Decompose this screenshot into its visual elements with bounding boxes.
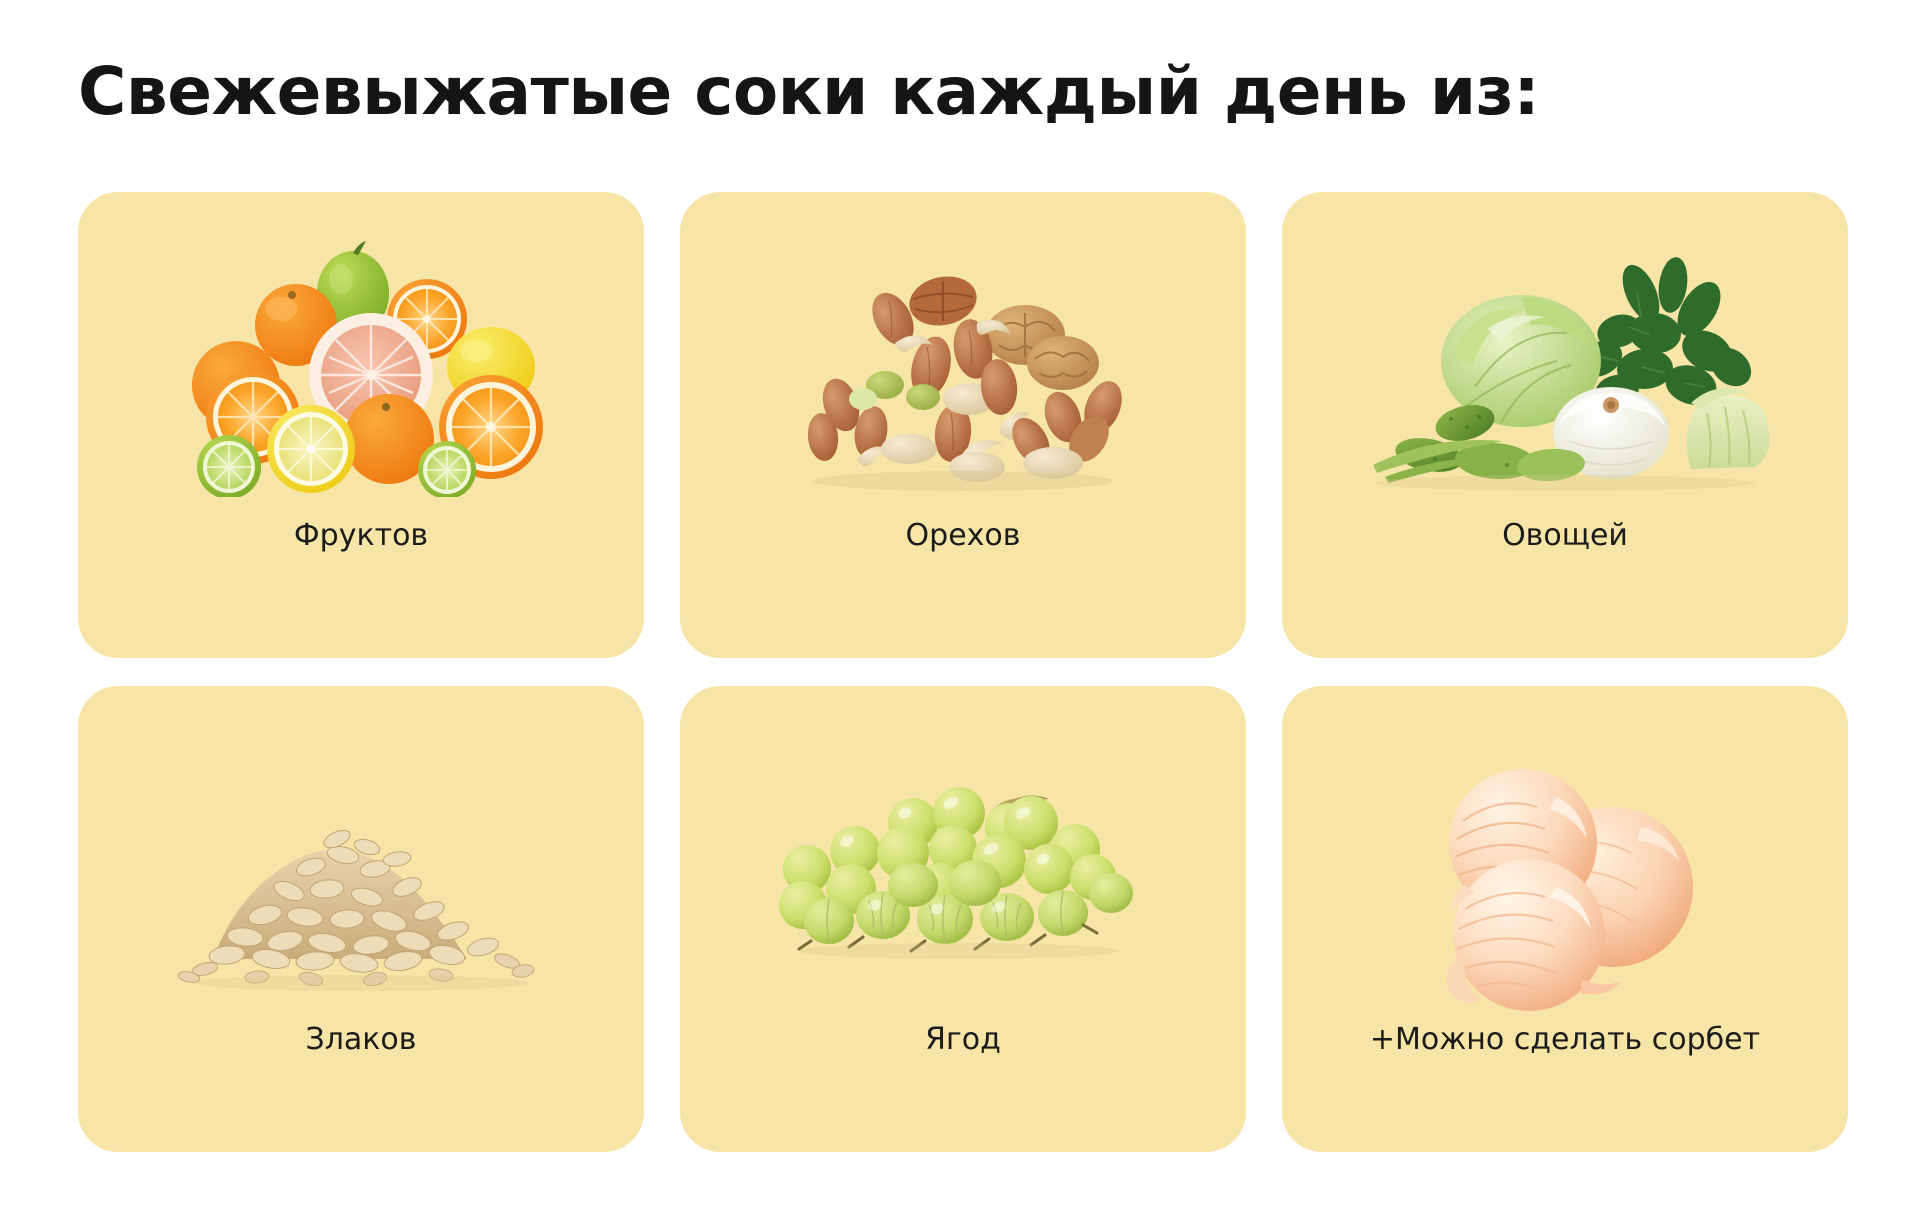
cards-grid: Фруктов xyxy=(78,192,1848,1152)
sorbet-scoops-image xyxy=(1282,686,1848,1022)
card-label-berries: Ягод xyxy=(925,1022,1001,1058)
card-grains[interactable]: Злаков xyxy=(78,686,644,1152)
card-label-sorbet: +Можно сделать сорбет xyxy=(1370,1022,1760,1058)
oat-flakes-image xyxy=(78,686,644,1022)
page-title: Свежевыжатые соки каждый день из: xyxy=(78,52,1539,132)
card-label-grains: Злаков xyxy=(306,1022,417,1058)
green-vegetables-image xyxy=(1282,192,1848,518)
card-berries[interactable]: Ягод xyxy=(680,686,1246,1152)
mixed-nuts-image xyxy=(680,192,1246,518)
card-nuts[interactable]: Орехов xyxy=(680,192,1246,658)
citrus-fruits-image xyxy=(78,192,644,518)
card-label-fruits: Фруктов xyxy=(294,518,428,554)
card-label-nuts: Орехов xyxy=(906,518,1021,554)
card-fruits[interactable]: Фруктов xyxy=(78,192,644,658)
green-grapes-gooseberries-image xyxy=(680,686,1246,1022)
card-vegetables[interactable]: Овощей xyxy=(1282,192,1848,658)
card-label-vegetables: Овощей xyxy=(1502,518,1628,554)
card-sorbet[interactable]: +Можно сделать сорбет xyxy=(1282,686,1848,1152)
poster-root: Свежевыжатые соки каждый день из: xyxy=(0,0,1926,1229)
